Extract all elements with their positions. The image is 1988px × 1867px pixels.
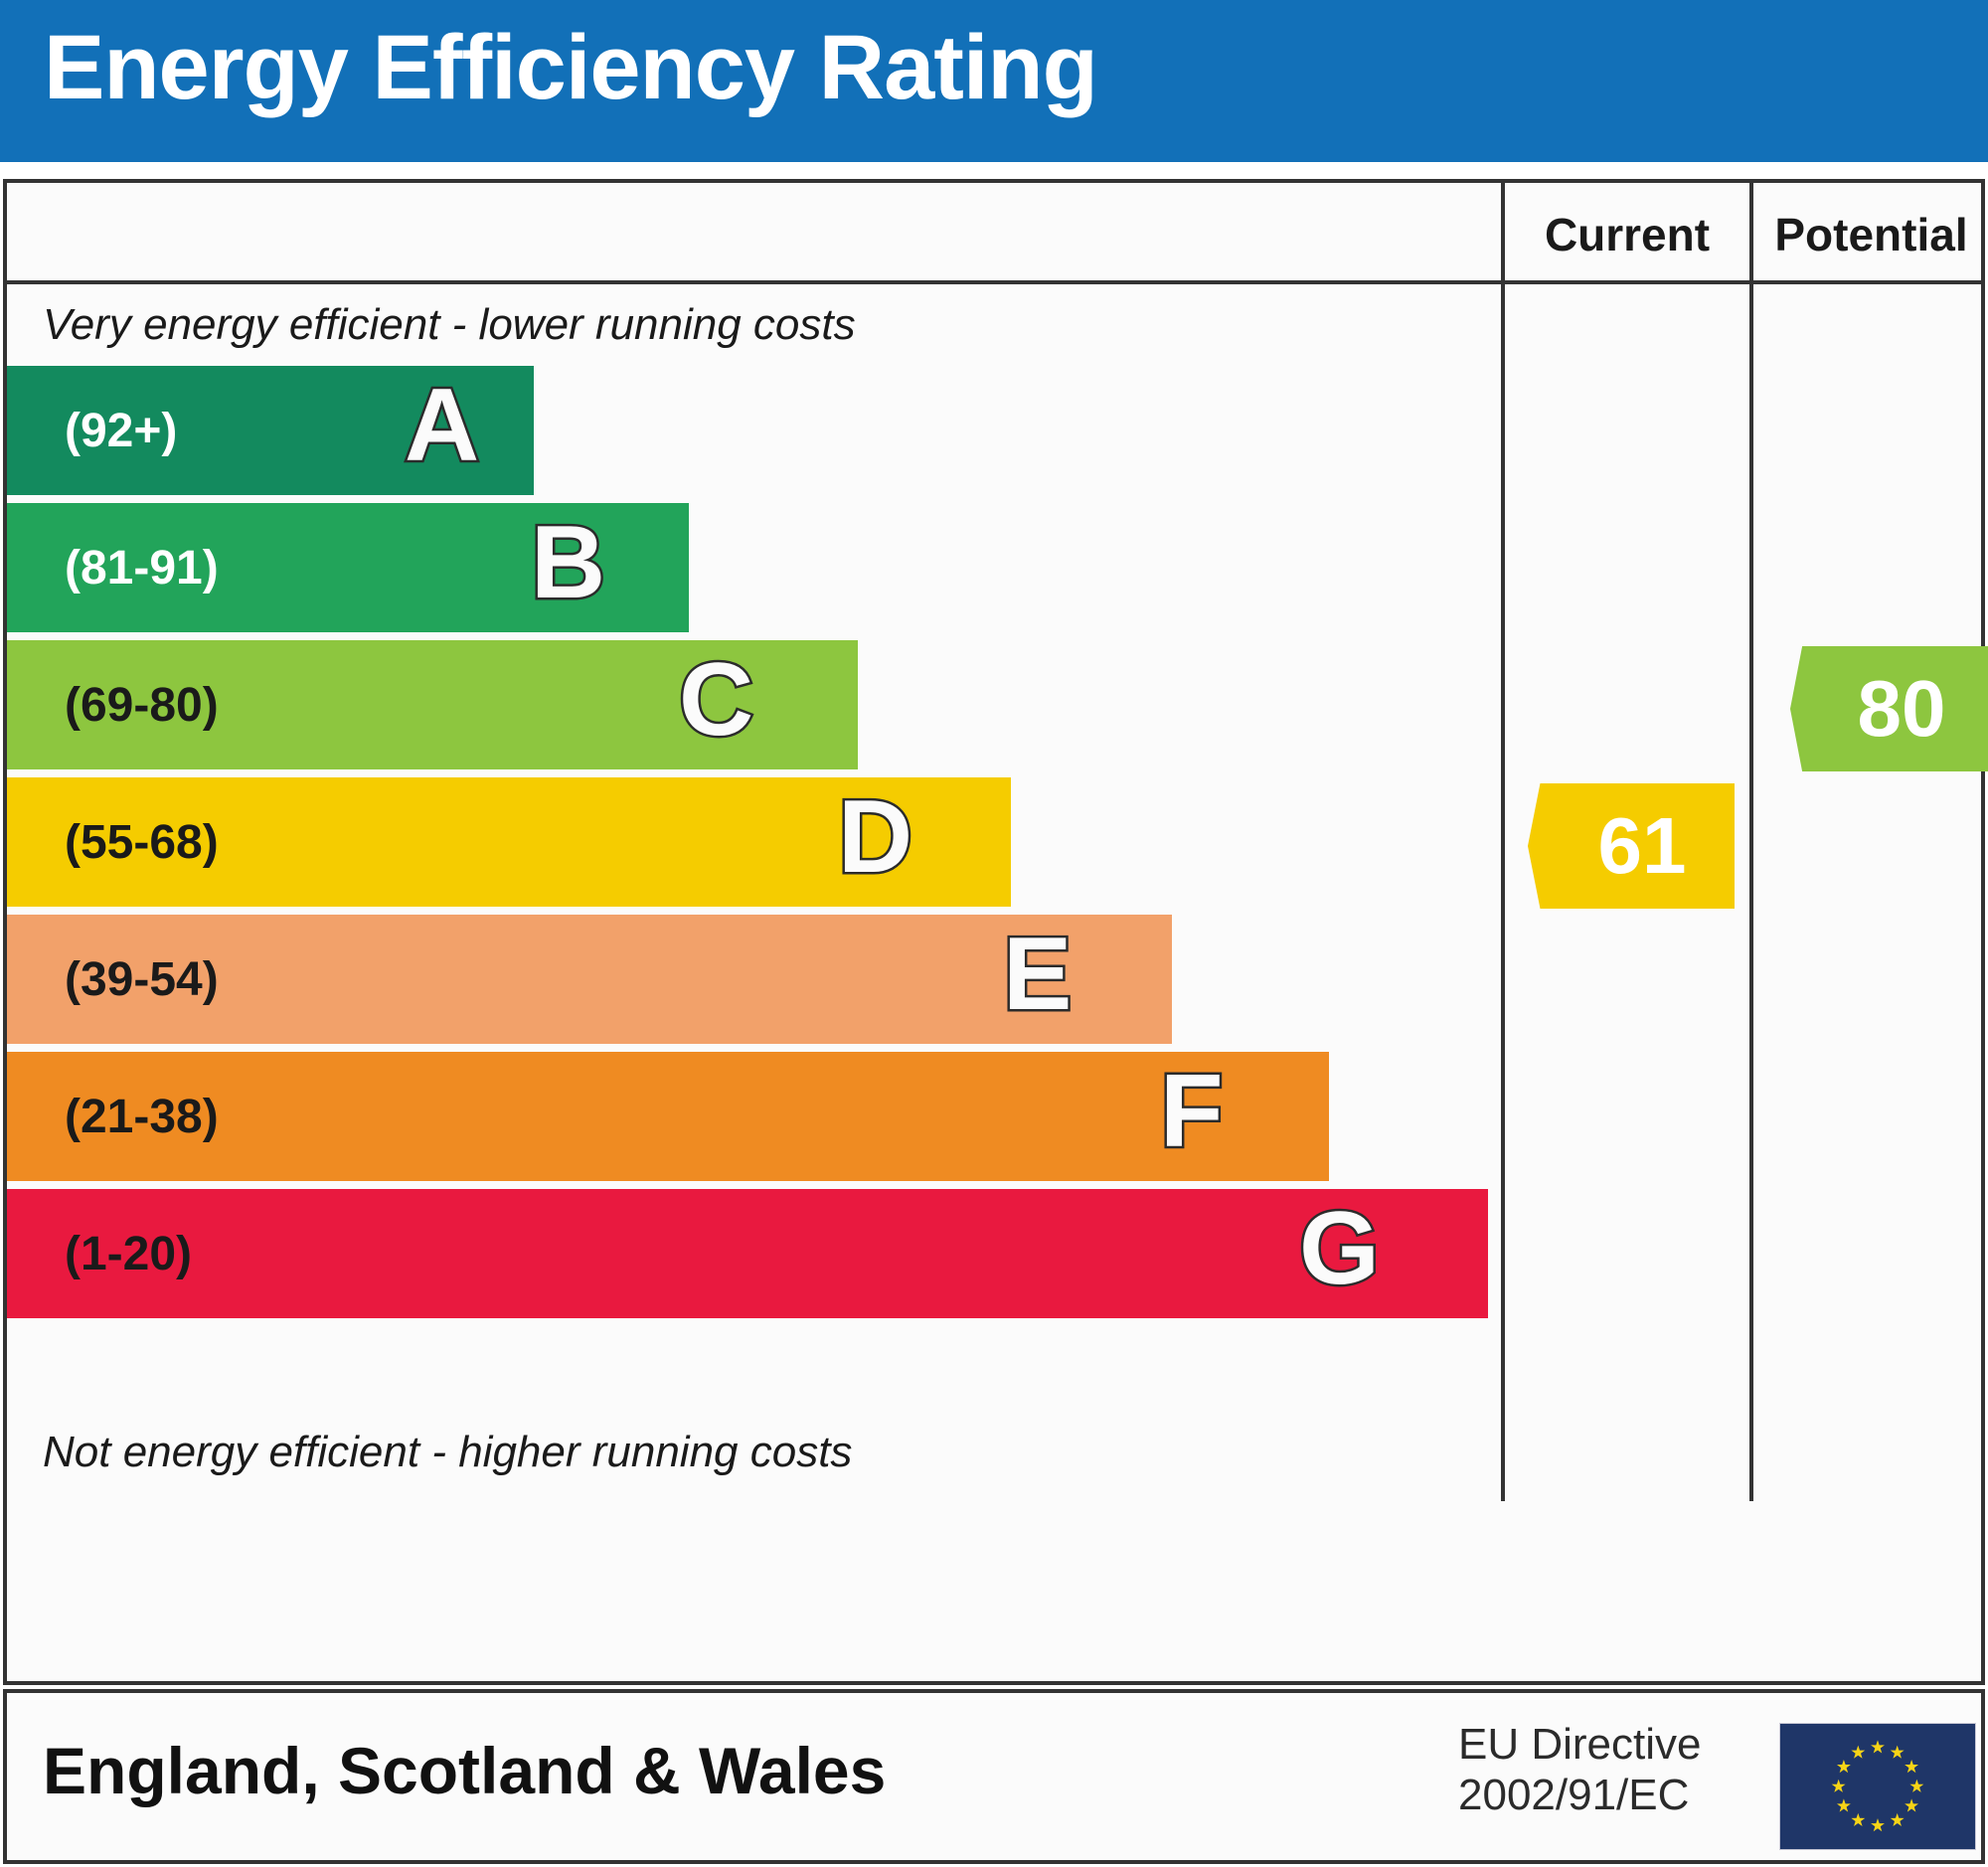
band-e-letter: E — [1003, 923, 1072, 1026]
band-f: (21-38) F — [7, 1052, 1329, 1181]
band-f-letter: F — [1160, 1060, 1224, 1163]
caption-bottom: Not energy efficient - higher running co… — [43, 1428, 852, 1477]
band-list: (92+) A (81-91) B (69-80) C (55-68) D — [7, 366, 1501, 1326]
rating-table: Current Potential Very energy efficient … — [3, 179, 1985, 1685]
band-e-range: (39-54) — [65, 952, 219, 1007]
band-f-range: (21-38) — [65, 1090, 219, 1144]
page-title: Energy Efficiency Rating — [44, 22, 1097, 113]
band-c-range: (69-80) — [65, 678, 219, 733]
band-a-range: (92+) — [65, 404, 177, 458]
band-b-range: (81-91) — [65, 541, 219, 595]
band-g: (1-20) G — [7, 1189, 1488, 1318]
eu-directive-line1: EU Directive — [1458, 1720, 1702, 1769]
footer: England, Scotland & Wales EU Directive 2… — [3, 1689, 1985, 1864]
band-a: (92+) A — [7, 366, 534, 495]
band-d-range: (55-68) — [65, 815, 219, 870]
band-a-letter: A — [405, 374, 479, 477]
title-bar: Energy Efficiency Rating — [0, 0, 1988, 162]
current-column-divider — [1501, 183, 1505, 1501]
energy-efficiency-certificate: Energy Efficiency Rating Current Potenti… — [0, 0, 1988, 1867]
band-c: (69-80) C — [7, 640, 858, 769]
eu-directive-label: EU Directive 2002/91/EC — [1458, 1719, 1702, 1820]
band-g-letter: G — [1299, 1197, 1380, 1300]
column-header-potential: Potential — [1753, 197, 1988, 272]
band-c-letter: C — [679, 648, 753, 752]
band-b: (81-91) B — [7, 503, 689, 632]
band-g-range: (1-20) — [65, 1227, 192, 1281]
eu-directive-line2: 2002/91/EC — [1458, 1771, 1689, 1819]
band-d-letter: D — [838, 785, 912, 889]
eu-flag-icon — [1779, 1723, 1976, 1850]
efficiency-scale: Very energy efficient - lower running co… — [7, 284, 1501, 1501]
column-header-current: Current — [1505, 197, 1749, 272]
current-rating-badge: 61 — [1528, 783, 1735, 909]
band-e: (39-54) E — [7, 915, 1172, 1044]
band-b-letter: B — [531, 511, 605, 614]
potential-column-divider — [1749, 183, 1753, 1501]
region-label: England, Scotland & Wales — [43, 1733, 886, 1808]
caption-top: Very energy efficient - lower running co… — [43, 300, 856, 350]
potential-rating-badge: 80 — [1790, 646, 1988, 771]
band-d: (55-68) D — [7, 777, 1011, 907]
